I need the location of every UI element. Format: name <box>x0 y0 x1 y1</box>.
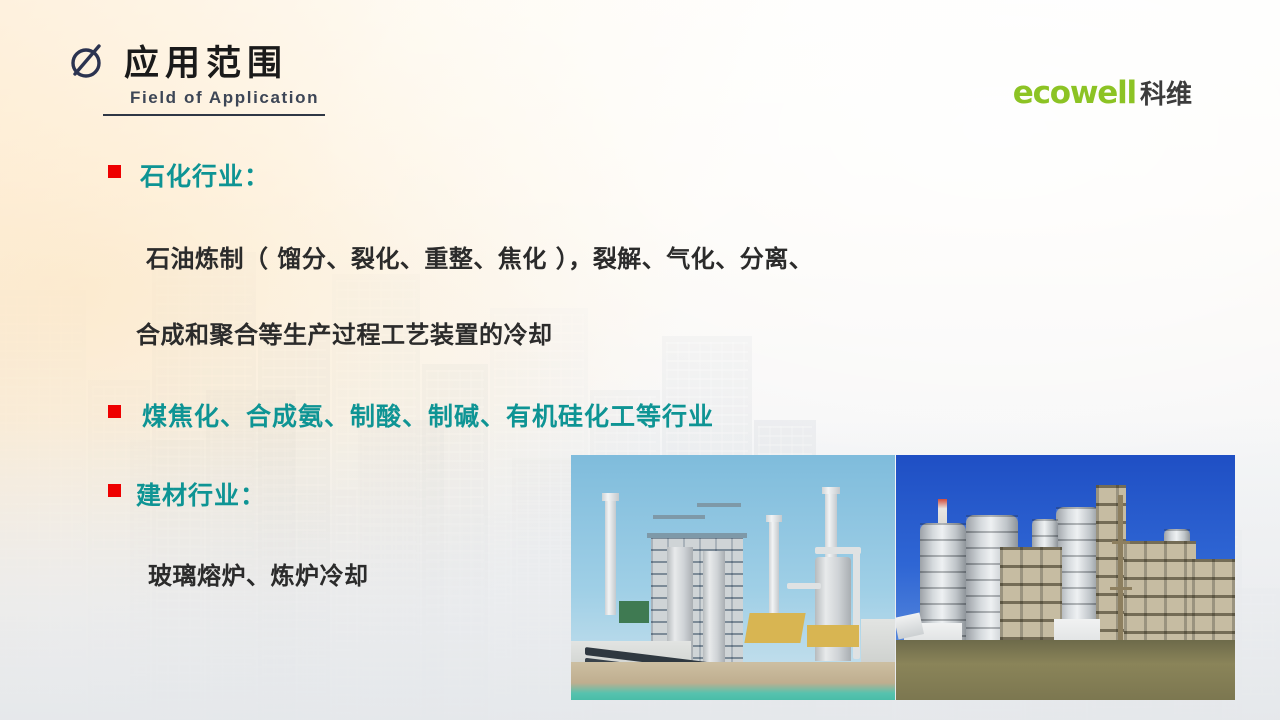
bullet-1-line-2: 合成和聚合等生产过程工艺装置的冷却 <box>136 315 553 350</box>
square-bullet-2 <box>108 405 121 418</box>
photo-plant-construction <box>896 455 1235 700</box>
bullet-heading-1: 石化行业： <box>140 157 270 193</box>
bullet-3-line-1: 玻璃熔炉、炼炉冷却 <box>148 556 369 591</box>
photo-plant-ground <box>896 640 1235 700</box>
square-bullet-1 <box>108 165 121 178</box>
slide-canvas: 应用范围 Field of Application ecowell 科维 石化行… <box>0 0 1280 720</box>
photo-refinery-ground <box>571 662 895 700</box>
bullet-heading-3: 建材行业： <box>136 476 266 512</box>
logo-text-chinese: 科维 <box>1140 74 1192 111</box>
square-bullet-3 <box>108 484 121 497</box>
photo-refinery <box>571 455 895 700</box>
page-subtitle: Field of Application <box>130 88 319 108</box>
brand-logo: ecowell 科维 <box>1013 74 1192 111</box>
title-divider <box>103 114 325 116</box>
diameter-slash-icon <box>68 41 108 81</box>
bullet-heading-2: 煤焦化、合成氨、制酸、制碱、有机硅化工等行业 <box>142 397 714 433</box>
logo-text-latin: ecowell <box>1013 75 1136 111</box>
bullet-1-line-1: 石油炼制（ 馏分、裂化、重整、焦化 ），裂解、气化、分离、 <box>146 239 813 274</box>
page-title: 应用范围 <box>124 35 288 86</box>
